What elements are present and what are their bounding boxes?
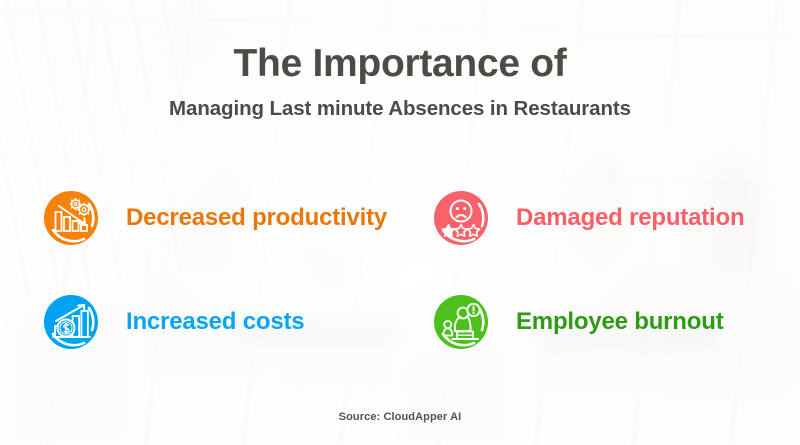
list-item[interactable]: Damaged reputation	[430, 186, 744, 250]
list-item[interactable]: Increased costs	[40, 290, 304, 354]
source-attribution: Source: CloudApper AI	[0, 411, 800, 423]
page-title: The Importance of	[0, 44, 800, 85]
list-item-label: Damaged reputation	[516, 204, 744, 232]
list-item[interactable]: Decreased productivity	[40, 186, 387, 250]
page-subtitle: Managing Last minute Absences in Restaur…	[0, 97, 800, 121]
list-item-label: Employee burnout	[516, 308, 723, 336]
rising-bar-chart-dollar-coin-icon	[40, 290, 104, 354]
infographic-canvas: The Importance of Managing Last minute A…	[0, 0, 800, 445]
exhausted-worker-desk-alert-icon	[430, 290, 494, 354]
declining-bar-chart-gears-icon	[40, 186, 104, 250]
sad-face-star-rating-icon	[430, 186, 494, 250]
list-item-label: Increased costs	[126, 308, 304, 336]
list-item-label: Decreased productivity	[126, 204, 387, 232]
list-item[interactable]: Employee burnout	[430, 290, 723, 354]
